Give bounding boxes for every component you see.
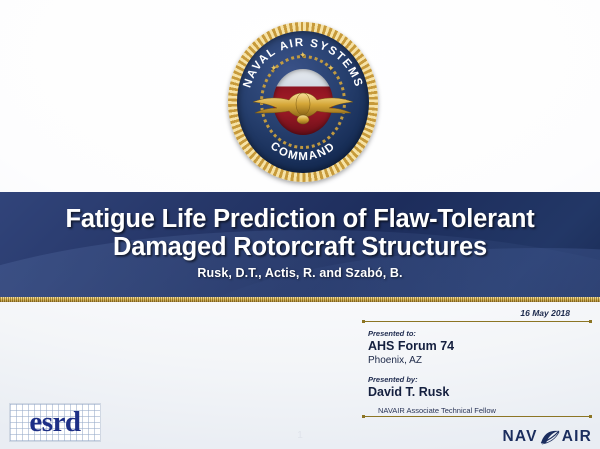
divider-line xyxy=(365,321,589,322)
presentation-date: 16 May 2018 xyxy=(362,308,592,318)
seal-eagle-wings-icon xyxy=(249,85,357,125)
divider-cap-right xyxy=(589,415,592,418)
event-location: Phoenix, AZ xyxy=(368,354,592,368)
divider-line xyxy=(365,416,589,417)
page-title-line-2: Damaged Rotorcraft Structures xyxy=(0,233,600,261)
spacer xyxy=(362,368,592,375)
naval-air-systems-command-seal-icon: ✦ ✦ ✦ xyxy=(228,22,378,182)
seal-star-icon: ✦ xyxy=(270,64,278,73)
navair-logo: NAV AIR xyxy=(503,428,592,446)
divider-cap-right xyxy=(589,320,592,323)
presented-to-label: Presented to: xyxy=(368,329,592,338)
seal-star-icon: ✦ xyxy=(327,64,335,73)
navair-logo-text-right: AIR xyxy=(562,428,592,446)
title-band: Fatigue Life Prediction of Flaw-Tolerant… xyxy=(0,192,600,302)
event-name: AHS Forum 74 xyxy=(368,339,592,354)
presented-by-label: Presented by: xyxy=(368,375,592,384)
seal-star-icon: ✦ xyxy=(299,51,307,60)
presentation-slide: ✦ ✦ ✦ xyxy=(0,0,600,449)
page-title-line-1: Fatigue Life Prediction of Flaw-Tolerant xyxy=(0,205,600,233)
seal-navy-ring: ✦ ✦ ✦ xyxy=(237,31,369,173)
authors-line: Rusk, D.T., Actis, R. and Szabó, B. xyxy=(0,266,600,280)
seal-area: ✦ ✦ ✦ xyxy=(0,0,600,192)
navair-logo-text-left: NAV xyxy=(503,428,538,446)
presentation-info-block: 16 May 2018 Presented to: AHS Forum 74 P… xyxy=(362,308,592,417)
title-band-bottom-rule xyxy=(0,297,600,302)
presenter-name: David T. Rusk xyxy=(368,385,592,400)
navair-wing-swoosh-icon xyxy=(540,429,560,445)
info-divider-top xyxy=(362,320,592,323)
title-block: Fatigue Life Prediction of Flaw-Tolerant… xyxy=(0,192,600,280)
info-divider-bottom xyxy=(362,415,592,418)
